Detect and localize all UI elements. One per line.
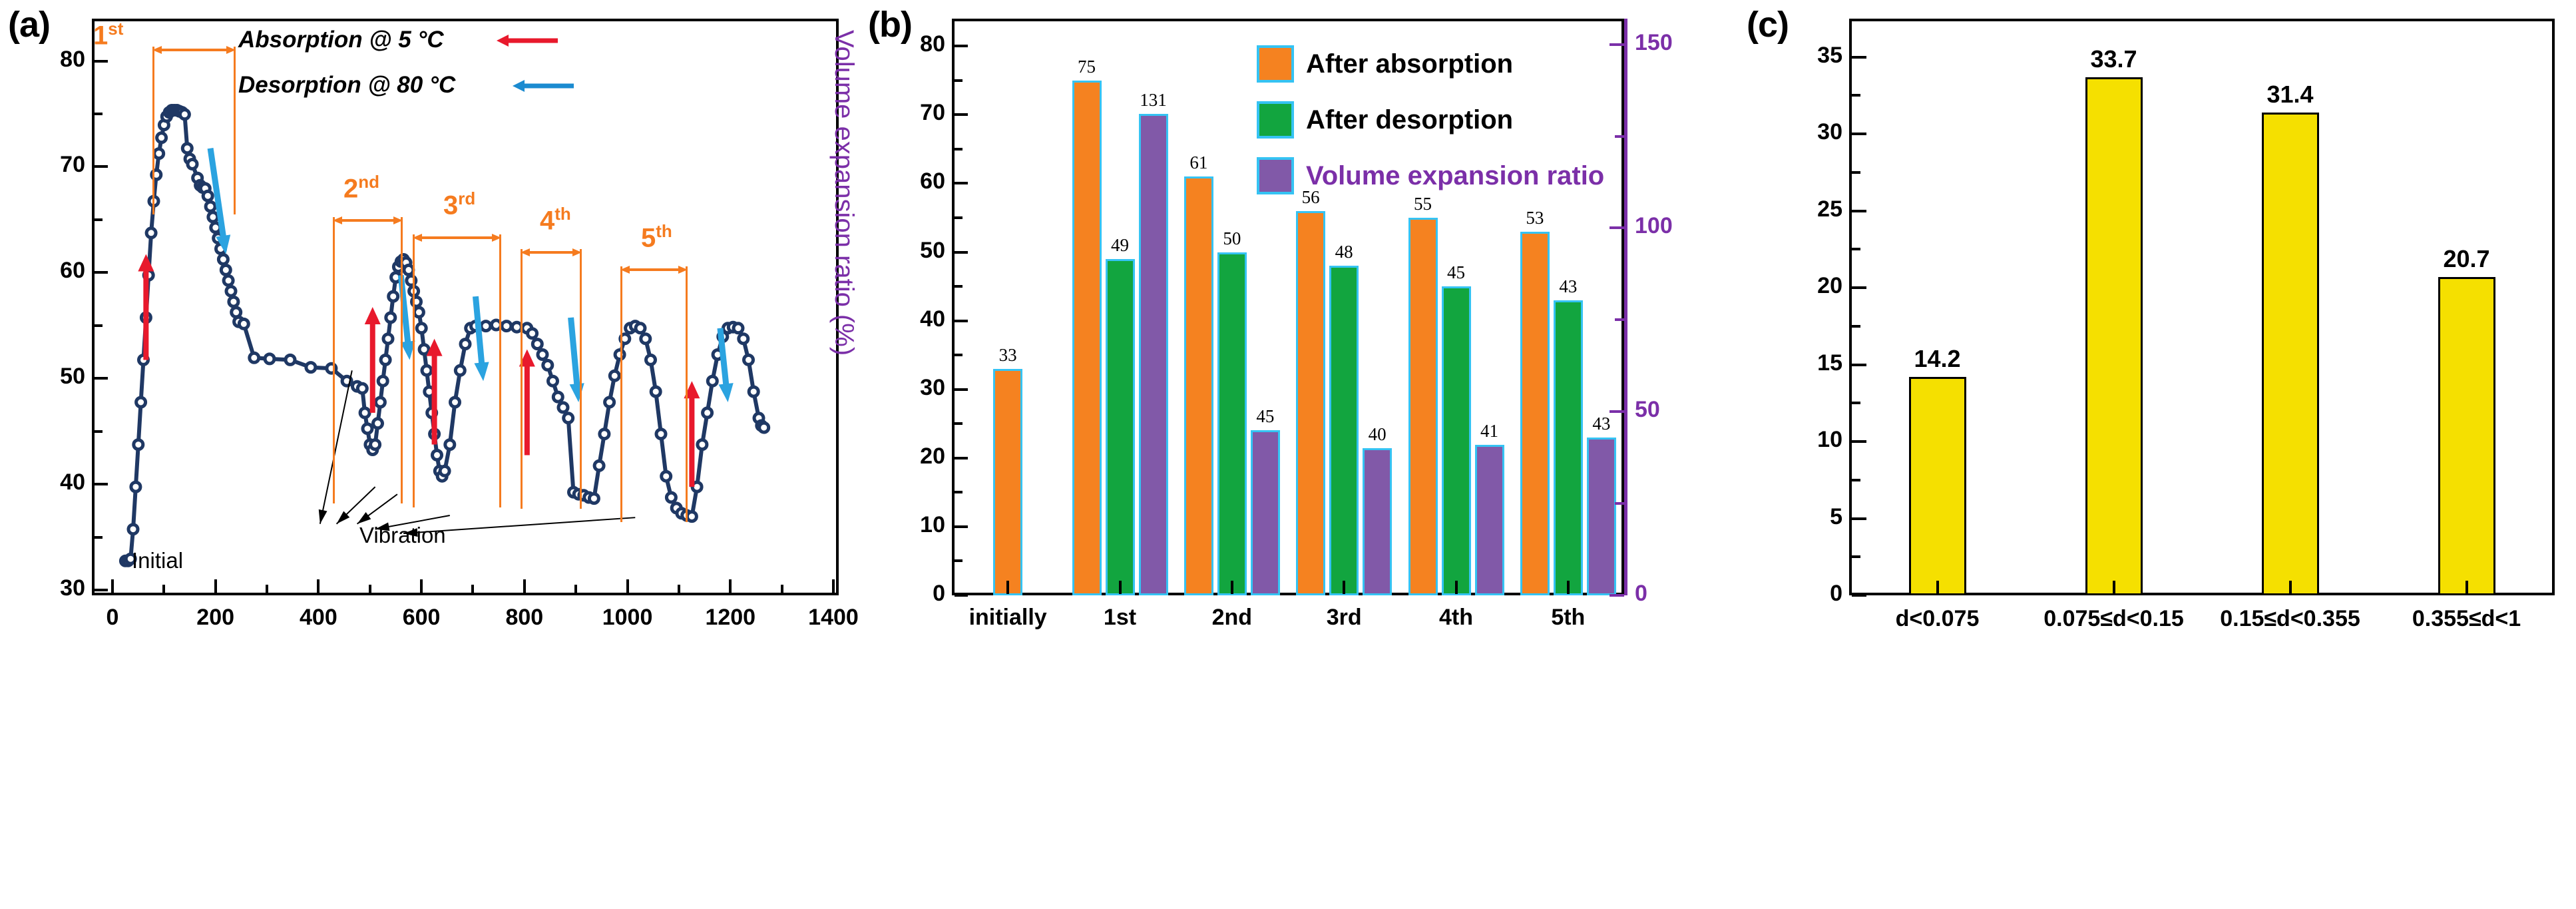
panel-a-x-minor-tick: [574, 585, 577, 593]
panel-b-y-minor-tick: [955, 79, 963, 82]
panel-b-y-minor-tick: [955, 354, 963, 356]
panel-c-x-tick: [2289, 581, 2292, 594]
panel-b-y-tick-label: 50: [888, 238, 945, 264]
panel-a-x-tick: [111, 579, 114, 593]
panel-a-y-tick-label: 70: [28, 152, 85, 178]
panel-c-bar-value-label: 31.4: [2224, 81, 2357, 109]
panel-a-x-minor-tick: [678, 585, 680, 593]
panel-a-data-point: [698, 440, 707, 450]
panel-b-y-tick-label: 20: [888, 444, 945, 469]
panel-b-bar-value-label: 61: [1166, 152, 1232, 173]
panel-b-bar-value-label: 131: [1120, 90, 1187, 111]
panel-b-y-tick: [955, 113, 968, 116]
panel-c-bar-value-label: 14.2: [1871, 345, 2004, 373]
panel-b-bar: [1475, 445, 1504, 595]
panel-a-y-tick: [95, 165, 108, 168]
panel-a-x-tick-label: 200: [169, 605, 262, 631]
panel-c-y-tick-label: 5: [1785, 504, 1842, 530]
absorption-arrow-icon: [138, 254, 154, 360]
panel-b-legend-label-1: After desorption: [1306, 105, 1513, 135]
panel-a-data-point: [759, 423, 769, 432]
panel-c-y-minor-tick: [1852, 325, 1860, 328]
panel-b-legend-swatch-1: [1257, 101, 1294, 139]
panel-a-y-tick: [95, 483, 108, 485]
panel-c-y-tick: [1852, 364, 1866, 366]
panel-b-y-tick: [955, 251, 968, 254]
panel-a-data-point: [687, 512, 696, 521]
panel-a-x-tick: [523, 579, 526, 593]
panel-b-right-y-minor-tick: [1615, 135, 1624, 138]
panel-b-legend-swatch-2: [1257, 157, 1294, 194]
panel-c-x-tick: [2113, 581, 2115, 594]
panel-b-legend-label-2: Volume expansion ratio: [1306, 161, 1604, 191]
panel-a-x-tick: [729, 579, 732, 593]
panel-a-x-tick: [626, 579, 629, 593]
panel-a-data-point: [404, 265, 413, 274]
panel-a-y-minor-tick: [95, 430, 103, 433]
panel-a-cycle-5-label: 5th: [641, 221, 672, 253]
panel-b-legend-item-2: Volume expansion ratio: [1257, 157, 1604, 194]
panel-c-y-tick-label: 20: [1785, 273, 1842, 299]
panel-b-y-tick-label: 0: [888, 581, 945, 607]
panel-a-data-point: [224, 276, 233, 285]
panel-b-x-tick: [1119, 581, 1122, 594]
panel-a-x-minor-tick: [471, 585, 474, 593]
panel-b-bar: [1363, 448, 1392, 595]
panel-a-data-point: [265, 354, 274, 364]
panel-a-cycle-4-bracket: [521, 249, 582, 509]
panel-c-y-minor-tick: [1852, 555, 1860, 558]
panel-a-data-point: [610, 371, 619, 380]
panel-c-bar: [1909, 377, 1966, 595]
panel-b-bar: [1296, 211, 1325, 595]
panel-c-y-minor-tick: [1852, 94, 1860, 97]
panel-b-y-tick-label: 30: [888, 375, 945, 401]
panel-b-y-tick: [955, 182, 968, 184]
panel-a: (a) Axial position (mm) Time (min) Absor…: [0, 0, 859, 718]
panel-b-y-tick: [955, 594, 968, 597]
panel-c: (c) Percentage (%) Partical size (mm) 14…: [1737, 0, 2576, 718]
panel-a-y-tick-label: 60: [28, 258, 85, 284]
panel-b-y-minor-tick: [955, 491, 963, 493]
panel-b-y-tick-label: 10: [888, 512, 945, 538]
panel-a-y-tick: [95, 60, 108, 63]
panel-b-y-tick: [955, 45, 968, 47]
panel-c-y-tick-label: 30: [1785, 119, 1842, 145]
panel-a-data-point: [250, 353, 259, 362]
panel-a-data-point: [306, 363, 316, 372]
panel-a-x-tick-label: 1200: [684, 605, 777, 631]
panel-a-data-point: [739, 334, 748, 344]
panel-a-x-minor-tick: [781, 585, 783, 593]
panel-b-x-tick: [1455, 581, 1458, 594]
panel-a-x-minor-tick: [162, 585, 165, 593]
desorption-arrow-icon: [510, 75, 576, 97]
panel-b-right-axis-line: [1624, 19, 1627, 595]
panel-b-bar: [1139, 114, 1168, 595]
panel-a-y-minor-tick: [95, 218, 103, 221]
panel-a-cycle-5-bracket: [620, 266, 688, 522]
panel-c-y-minor-tick: [1852, 171, 1860, 174]
panel-a-x-tick: [420, 579, 423, 593]
panel-a-x-tick: [214, 579, 217, 593]
panel-a-cycle-4-label: 4th: [540, 204, 571, 236]
panel-b-x-tick: [1231, 581, 1233, 594]
panel-c-x-tick: [1936, 581, 1939, 594]
panel-c-bar: [2085, 77, 2143, 595]
panel-b-x-tick: [1567, 581, 1570, 594]
panel-a-data-point: [146, 228, 156, 238]
panel-a-data-point: [708, 376, 717, 386]
panel-a-data-point: [600, 430, 609, 439]
panel-b-bar-value-label: 75: [1054, 57, 1120, 77]
panel-a-data-point: [134, 440, 143, 450]
absorption-arrow-icon: [494, 29, 560, 52]
panel-b-right-y-minor-tick: [1615, 502, 1624, 505]
panel-b-bar: [1072, 81, 1102, 595]
panel-a-y-tick: [95, 377, 108, 380]
panel-b-bar: [993, 369, 1022, 595]
panel-a-data-point: [286, 355, 295, 364]
panel-b-bar-value-label: 45: [1232, 406, 1299, 427]
panel-b-bar: [1106, 259, 1135, 595]
panel-c-y-minor-tick: [1852, 248, 1860, 250]
panel-a-cycle-2-label: 2nd: [343, 172, 379, 204]
panel-a-data-point: [136, 398, 146, 407]
panel-b-right-y-tick-label: 100: [1635, 213, 1673, 239]
panel-a-data-point: [226, 286, 236, 296]
panel-a-data-point: [502, 322, 511, 331]
panel-a-data-point: [218, 255, 228, 264]
panel-b-right-y-tick: [1610, 594, 1624, 597]
panel-b-bar: [1554, 300, 1583, 595]
panel-a-cycle-1-bracket: [152, 47, 236, 214]
panel-b-y-axis-right-title: Volume expansion ratio (%): [829, 30, 859, 909]
panel-b-legend-item-0: After absorption: [1257, 45, 1513, 83]
panel-a-cycle-2-bracket: [333, 217, 403, 503]
panel-c-y-tick: [1852, 210, 1866, 212]
panel-a-data-point: [229, 297, 238, 306]
panel-b-legend-label-0: After absorption: [1306, 49, 1513, 79]
panel-a-x-minor-tick: [369, 585, 371, 593]
panel-a-y-tick-label: 30: [28, 575, 85, 601]
panel-c-bar: [2438, 277, 2495, 595]
panel-b-bar-value-label: 50: [1199, 228, 1265, 249]
panel-a-y-tick-label: 50: [28, 364, 85, 390]
panel-c-y-tick-label: 15: [1785, 350, 1842, 376]
panel-b-y-tick: [955, 457, 968, 459]
panel-a-x-tick-label: 400: [272, 605, 365, 631]
panel-a-y-minor-tick: [95, 113, 103, 115]
panel-c-y-tick: [1852, 594, 1866, 597]
panel-c-y-tick-label: 10: [1785, 427, 1842, 453]
panel-b-right-y-minor-tick: [1615, 318, 1624, 321]
panel-c-bar-value-label: 33.7: [2047, 45, 2181, 73]
panel-a-data-point: [734, 324, 743, 333]
panel-c-x-tick-label: 0.355≤d<1: [2354, 606, 2576, 632]
panel-a-x-tick-label: 1000: [581, 605, 674, 631]
panel-b-y-tick: [955, 388, 968, 391]
panel-b-bar-value-label: 53: [1502, 208, 1568, 228]
figure-root: (a) Axial position (mm) Time (min) Absor…: [0, 0, 2576, 718]
panel-a-vibration-annotation: Vibration: [359, 523, 446, 548]
panel-a-y-tick-label: 80: [28, 47, 85, 73]
panel-c-y-tick: [1852, 56, 1866, 59]
panel-a-data-point: [239, 319, 248, 328]
panel-a-y-tick: [95, 589, 108, 591]
panel-a-x-tick: [317, 579, 320, 593]
panel-a-x-tick-label: 600: [375, 605, 468, 631]
panel-b-right-y-tick: [1610, 226, 1624, 229]
panel-a-cycle-1-label: 1st: [93, 19, 123, 51]
panel-b-x-tick-label: 5th: [1482, 605, 1655, 631]
panel-b-right-y-tick-label: 50: [1635, 397, 1660, 423]
panel-a-data-point: [703, 408, 712, 418]
panel-b-y-minor-tick: [955, 422, 963, 425]
panel-b-legend-item-1: After desorption: [1257, 101, 1513, 139]
panel-a-legend-desorption-label: Desorption @ 80 °C: [238, 72, 455, 99]
panel-c-x-tick: [2466, 581, 2468, 594]
panel-b-x-tick: [1006, 581, 1009, 594]
panel-b-y-minor-tick: [955, 216, 963, 219]
panel-a-data-point: [221, 265, 230, 274]
panel-c-y-minor-tick: [1852, 479, 1860, 481]
panel-c-y-tick: [1852, 517, 1866, 520]
panel-a-data-point: [589, 494, 598, 503]
panel-b-bar-value-label: 41: [1456, 421, 1523, 442]
panel-b-bar: [1587, 438, 1616, 595]
panel-a-cycle-3-bracket: [413, 234, 501, 507]
panel-a-x-tick-label: 0: [66, 605, 159, 631]
panel-b-y-tick-label: 40: [888, 306, 945, 332]
panel-b-y-minor-tick: [955, 148, 963, 151]
panel-c-y-minor-tick: [1852, 402, 1860, 404]
panel-b-y-tick-label: 70: [888, 100, 945, 126]
panel-c-bar-value-label: 20.7: [2400, 245, 2533, 273]
panel-c-y-tick: [1852, 286, 1866, 289]
panel-b-bar-value-label: 43: [1535, 276, 1602, 297]
panel-a-y-tick-label: 40: [28, 469, 85, 495]
panel-a-data-point: [744, 355, 753, 364]
panel-a-data-point: [131, 482, 140, 491]
panel-c-y-tick-label: 0: [1785, 581, 1842, 607]
panel-b-right-y-tick-label: 0: [1635, 581, 1647, 607]
panel-a-x-tick-label: 800: [478, 605, 571, 631]
panel-b-bar-value-label: 40: [1344, 424, 1410, 445]
panel-a-initial-annotation: Initial: [132, 548, 183, 573]
panel-a-cycle-3-label: 3rd: [443, 188, 475, 220]
panel-c-tag: (c): [1747, 4, 1789, 45]
panel-a-y-tick: [95, 271, 108, 274]
panel-b-right-y-tick: [1610, 43, 1624, 46]
panel-a-data-point: [605, 398, 614, 407]
panel-a-y-minor-tick: [95, 324, 103, 327]
panel-b-y-tick-label: 80: [888, 31, 945, 57]
panel-b-y-tick: [955, 320, 968, 322]
panel-a-x-minor-tick: [266, 585, 268, 593]
panel-a-tag: (a): [8, 4, 50, 45]
panel-b-legend-swatch-0: [1257, 45, 1294, 83]
panel-b-bar-value-label: 45: [1423, 262, 1490, 283]
panel-c-y-tick: [1852, 440, 1866, 443]
panel-c-y-tick-label: 35: [1785, 43, 1842, 69]
panel-a-data-point: [594, 461, 604, 470]
panel-b-y-minor-tick: [955, 559, 963, 562]
panel-b: (b) Axial position (mm) Volume expansion…: [859, 0, 1737, 718]
panel-a-legend-absorption-label: Absorption @ 5 °C: [238, 27, 444, 53]
panel-b-bar: [1251, 430, 1280, 595]
panel-b-y-minor-tick: [955, 285, 963, 288]
panel-c-bar: [2262, 113, 2319, 595]
panel-a-data-point: [749, 387, 758, 396]
panel-b-bar-value-label: 48: [1311, 242, 1377, 262]
panel-b-y-tick-label: 60: [888, 168, 945, 194]
panel-b-right-y-tick: [1610, 410, 1624, 413]
panel-b-y-tick: [955, 525, 968, 528]
panel-a-data-point: [128, 525, 138, 534]
panel-c-y-tick: [1852, 133, 1866, 135]
panel-b-right-y-tick-label: 150: [1635, 30, 1673, 56]
panel-b-bar-value-label: 55: [1390, 194, 1456, 214]
panel-a-y-minor-tick: [95, 536, 103, 539]
panel-b-bar-value-label: 33: [974, 345, 1041, 366]
panel-c-y-tick-label: 25: [1785, 196, 1842, 222]
panel-b-x-tick: [1343, 581, 1345, 594]
